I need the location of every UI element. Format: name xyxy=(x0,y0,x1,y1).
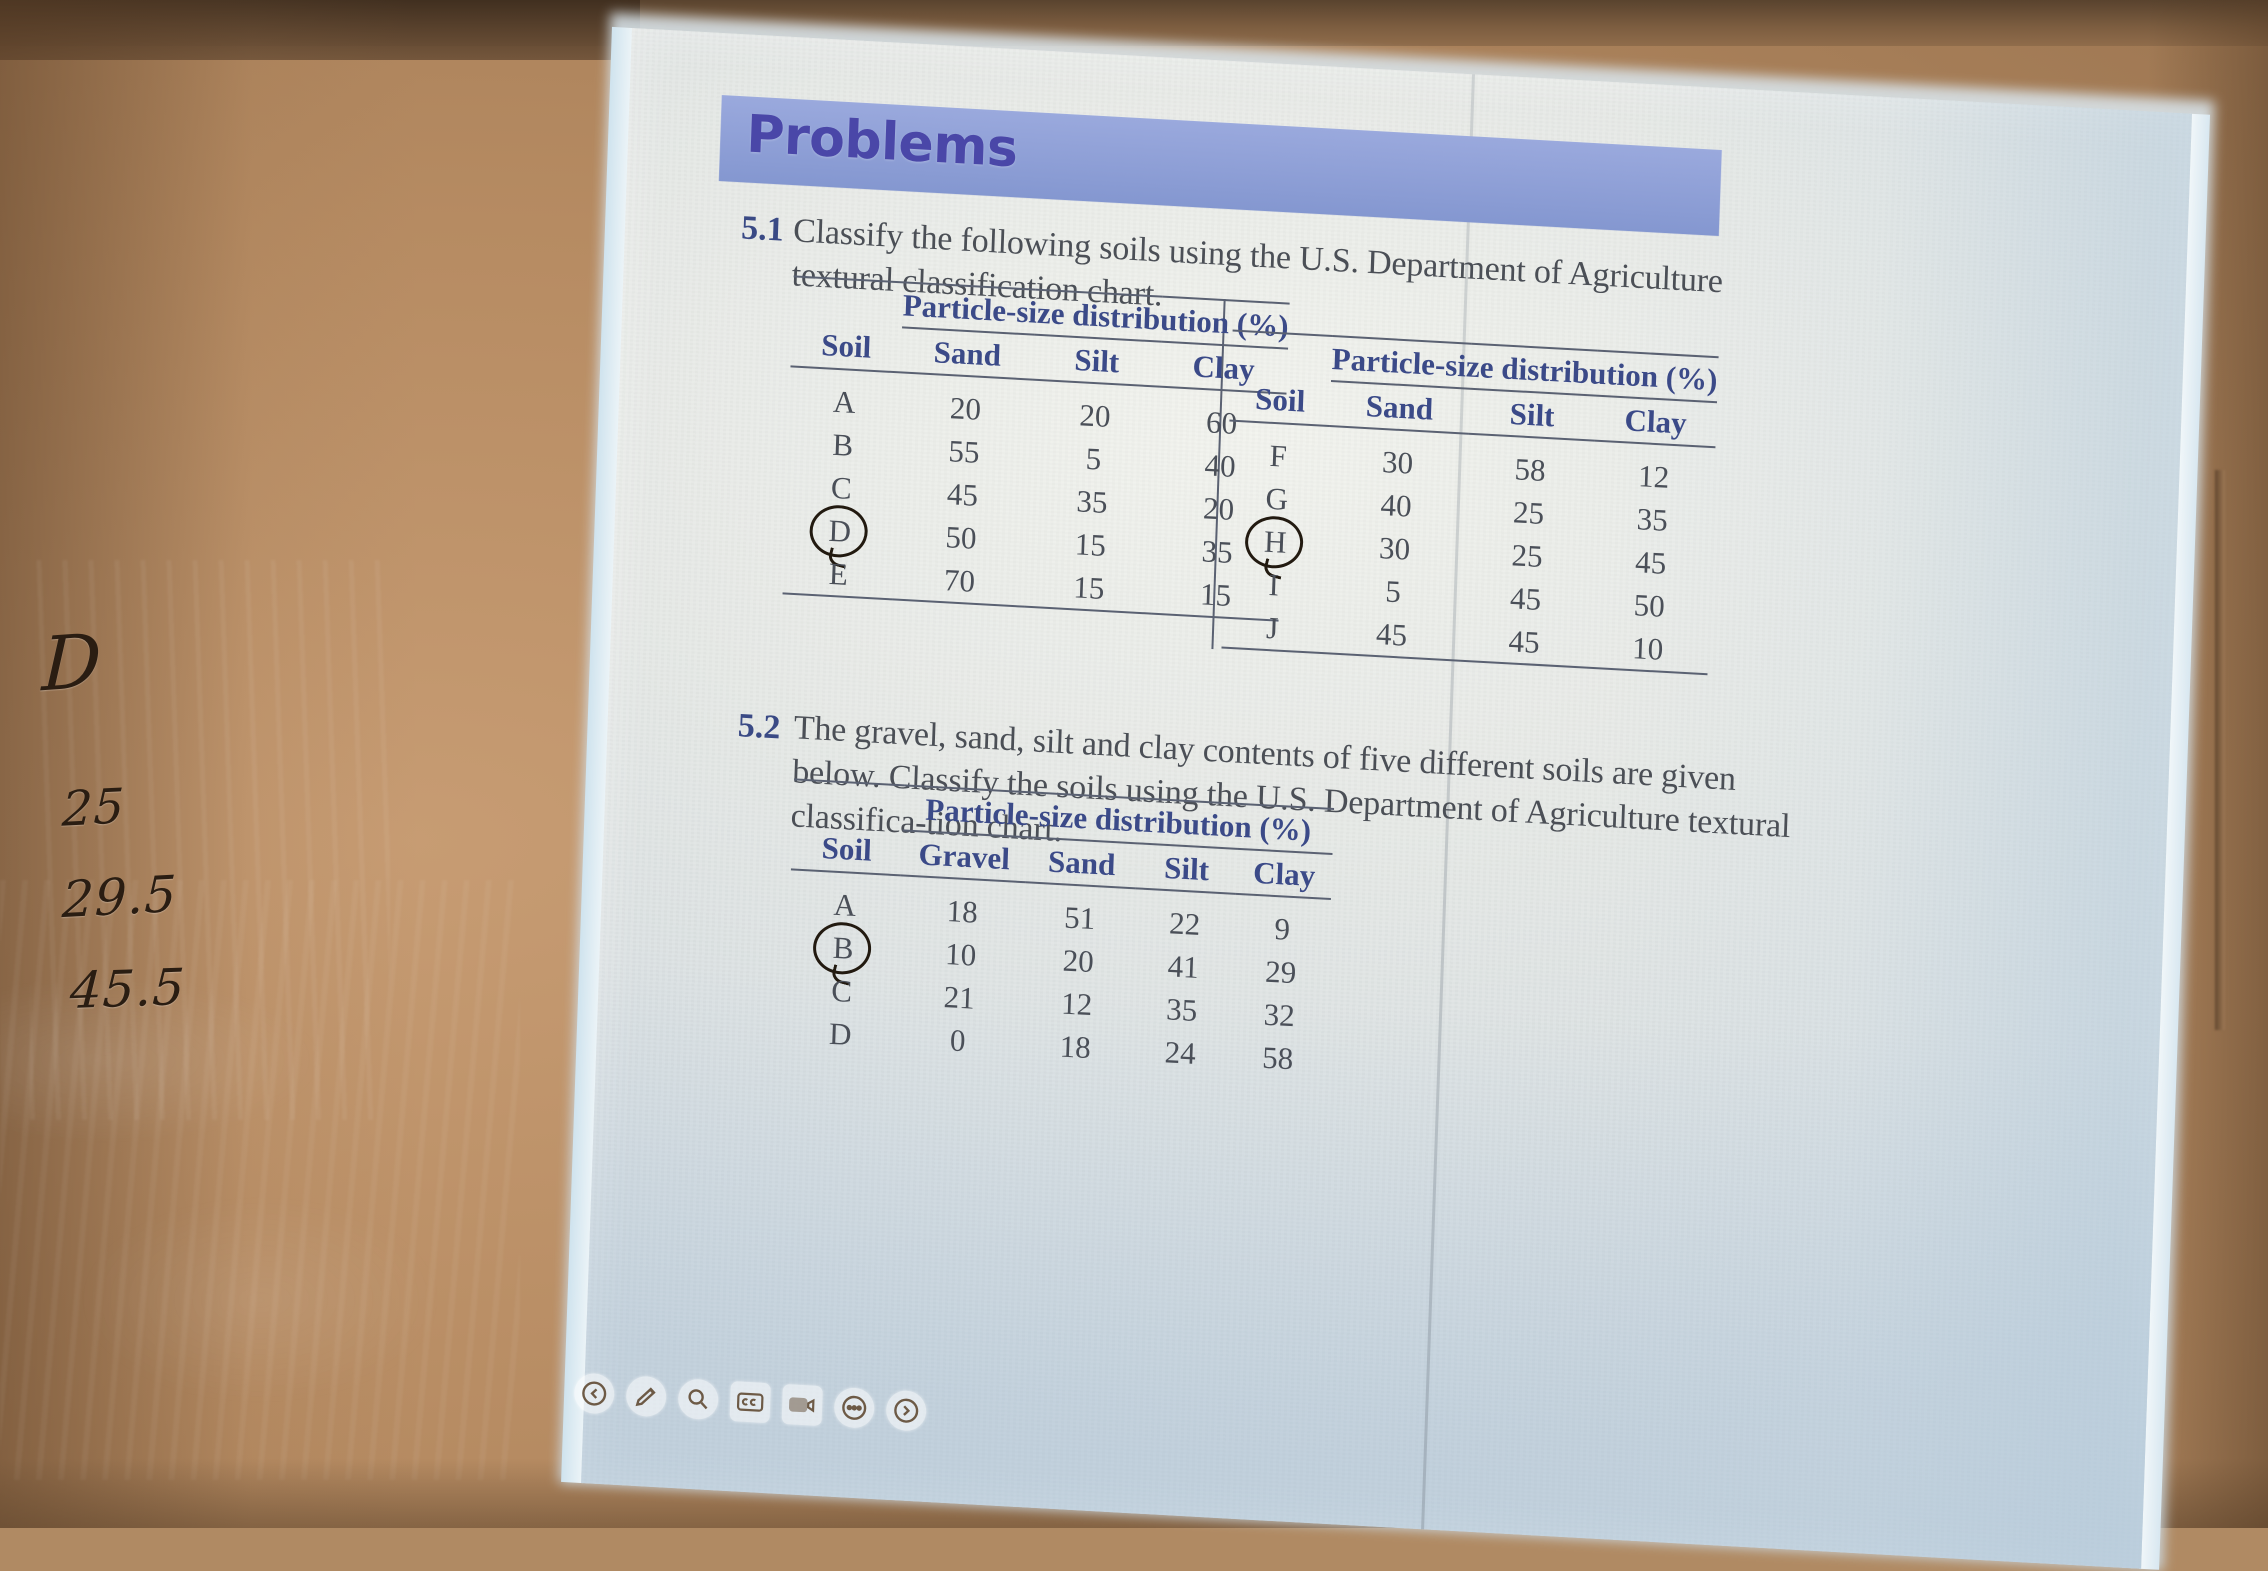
table-5-1-right-col-clay: Clay xyxy=(1595,396,1717,448)
table-5-1-left-col-silt: Silt xyxy=(1033,335,1161,387)
sand-value: 5 xyxy=(1323,566,1463,617)
clay-value: 12 xyxy=(1593,452,1715,502)
soil-label: E xyxy=(783,549,895,599)
table-5-1-left-col-sand: Sand xyxy=(900,327,1034,379)
soil-label-circled: B xyxy=(788,923,900,972)
sand-value: 51 xyxy=(1024,893,1136,942)
soil-label: I xyxy=(1223,561,1325,610)
handwritten-note-value-3: 45.5 xyxy=(69,958,187,1020)
sand-value: 50 xyxy=(894,512,1028,562)
sand-value: 45 xyxy=(1321,609,1461,661)
table-5-2: Particle-size distribution (%) Soil Grav… xyxy=(785,778,1335,1082)
silt-value: 22 xyxy=(1134,899,1236,948)
sand-value: 12 xyxy=(1021,979,1133,1028)
table-5-1-left-col-soil: Soil xyxy=(790,321,902,372)
silt-value: 58 xyxy=(1466,445,1594,495)
clay-value: 10 xyxy=(1587,624,1709,675)
sand-value: 45 xyxy=(896,469,1030,519)
silt-value: 15 xyxy=(1026,520,1154,570)
clay-value: 58 xyxy=(1230,1034,1327,1082)
back-arrow-icon[interactable] xyxy=(574,1372,615,1414)
sand-value: 55 xyxy=(897,426,1031,476)
silt-value: 25 xyxy=(1465,488,1593,538)
clay-value: 45 xyxy=(1590,538,1712,588)
soil-label: B xyxy=(787,420,899,469)
table-5-2-col-silt: Silt xyxy=(1136,843,1238,894)
soil-label: J xyxy=(1221,604,1323,654)
clay-value: 32 xyxy=(1231,991,1328,1039)
handwritten-note-answer-letter: D xyxy=(41,618,104,709)
table-5-2-col-sand: Sand xyxy=(1026,837,1138,888)
wall-panel-seam xyxy=(2215,470,2225,1030)
sand-value: 18 xyxy=(1020,1022,1132,1071)
table-5-1-right-col-soil: Soil xyxy=(1229,376,1331,427)
silt-value: 35 xyxy=(1131,985,1233,1033)
silt-value: 45 xyxy=(1462,574,1590,624)
projection-screen: Problems 5.1 Classify the following soil… xyxy=(581,28,2192,1569)
sand-value: 70 xyxy=(893,555,1027,606)
pen-circle-annotation-icon xyxy=(1243,514,1305,569)
table-5-2-col-gravel: Gravel xyxy=(901,830,1028,882)
gravel-value: 10 xyxy=(898,929,1025,979)
table-5-1-right-col-sand: Sand xyxy=(1329,381,1469,434)
gravel-value: 21 xyxy=(896,972,1023,1022)
silt-value: 20 xyxy=(1031,391,1159,441)
silt-value: 41 xyxy=(1133,942,1235,991)
table-5-1-right-col-silt: Silt xyxy=(1468,389,1596,441)
closed-caption-icon[interactable] xyxy=(730,1381,771,1423)
sand-value: 30 xyxy=(1328,437,1468,488)
soil-label: C xyxy=(786,966,898,1015)
sand-value: 20 xyxy=(1023,936,1135,985)
pencil-icon[interactable] xyxy=(626,1375,667,1417)
soil-label: D xyxy=(785,1009,897,1058)
silt-value: 35 xyxy=(1028,477,1156,527)
table-5-2-col-clay: Clay xyxy=(1236,849,1333,899)
table-5-1-right: Particle-size distribution (%) Soil Sand… xyxy=(1221,330,1718,682)
pen-circle-annotation-icon xyxy=(808,503,870,558)
ellipsis-icon[interactable] xyxy=(834,1387,875,1429)
gravel-value: 0 xyxy=(895,1015,1022,1065)
silt-value: 15 xyxy=(1025,563,1153,614)
soil-label-circled: D xyxy=(784,506,896,555)
question-number-5-2: 5.2 xyxy=(737,707,781,747)
handwritten-note-value-1: 25 xyxy=(61,778,126,837)
silt-value: 5 xyxy=(1029,434,1157,484)
clay-value: 50 xyxy=(1588,581,1710,631)
soil-label: F xyxy=(1228,432,1330,481)
silt-value: 45 xyxy=(1460,617,1588,668)
question-number-5-1: 5.1 xyxy=(741,209,785,249)
slide-page: Problems 5.1 Classify the following soil… xyxy=(581,28,2192,1569)
pdf-viewer-toolbar[interactable] xyxy=(574,1372,927,1431)
magnifier-icon[interactable] xyxy=(678,1378,719,1420)
sand-value: 20 xyxy=(899,383,1033,433)
table-5-1-left: Particle-size distribution (%) Soil Sand… xyxy=(782,275,1289,627)
sand-value: 40 xyxy=(1326,480,1466,531)
soil-label: A xyxy=(789,377,901,426)
handwritten-note-value-2: 29.5 xyxy=(61,865,178,929)
clay-value: 9 xyxy=(1234,905,1331,953)
soil-label-circled: H xyxy=(1225,518,1327,567)
forward-arrow-icon[interactable] xyxy=(886,1390,927,1432)
clay-value: 29 xyxy=(1233,948,1330,996)
silt-value: 24 xyxy=(1130,1028,1232,1077)
pen-circle-annotation-icon xyxy=(811,920,873,975)
table-5-2-col-soil: Soil xyxy=(791,824,903,875)
clay-value: 35 xyxy=(1591,495,1713,545)
video-camera-icon[interactable] xyxy=(782,1384,823,1426)
gravel-value: 18 xyxy=(899,886,1026,936)
sand-value: 30 xyxy=(1325,523,1465,574)
silt-value: 25 xyxy=(1463,531,1591,581)
slide-content: Problems 5.1 Classify the following soil… xyxy=(581,28,2192,1569)
